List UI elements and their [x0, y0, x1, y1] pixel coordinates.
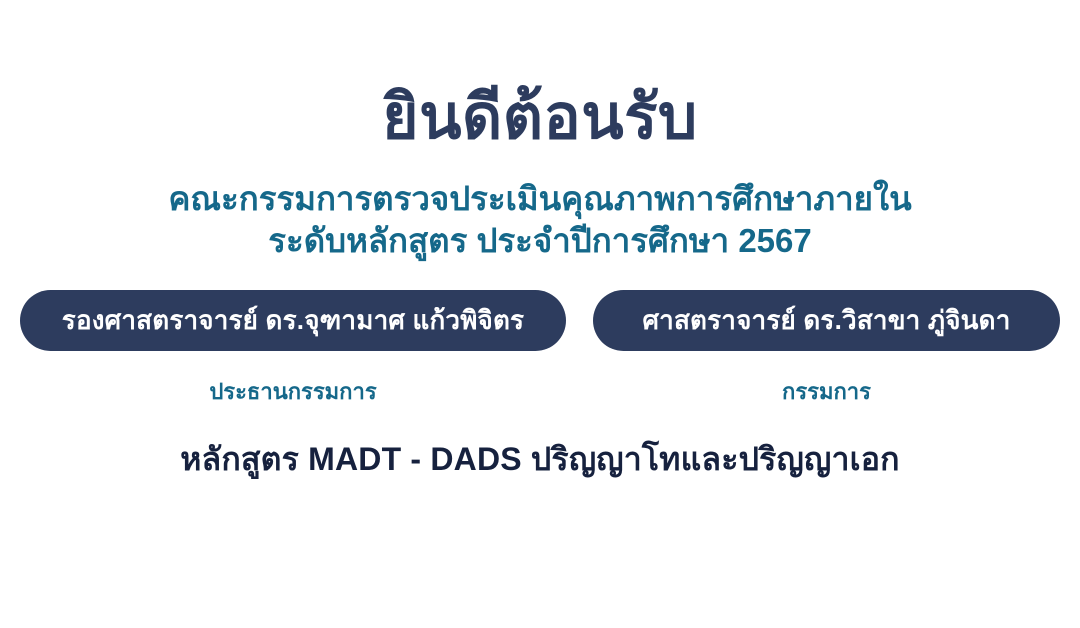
subtitle-line-1: คณะกรรมการตรวจประเมินคุณภาพการศึกษาภายใน	[0, 178, 1080, 220]
committee-roles-row: ประธานกรรมการ กรรมการ	[20, 374, 1060, 404]
program-line: หลักสูตร MADT - DADS ปริญญาโทและปริญญาเอ…	[0, 434, 1080, 485]
committee-member-name-pill-2: ศาสตราจารย์ ดร.วิสาขา ภู่จินดา	[593, 290, 1060, 351]
committee-pills-row: รองศาสตราจารย์ ดร.จุฑามาศ แก้วพิจิตร ศาส…	[20, 290, 1060, 351]
subtitle-block: คณะกรรมการตรวจประเมินคุณภาพการศึกษาภายใน…	[0, 178, 1080, 262]
subtitle-line-2: ระดับหลักสูตร ประจำปีการศึกษา 2567	[0, 220, 1080, 262]
page-title: ยินดีต้อนรับ	[0, 86, 1080, 149]
committee-member-role-2: กรรมการ	[593, 374, 1060, 409]
welcome-slide: ยินดีต้อนรับ คณะกรรมการตรวจประเมินคุณภาพ…	[0, 0, 1080, 628]
committee-member-name-pill-1: รองศาสตราจารย์ ดร.จุฑามาศ แก้วพิจิตร	[20, 290, 566, 351]
committee-member-role-1: ประธานกรรมการ	[20, 374, 566, 409]
